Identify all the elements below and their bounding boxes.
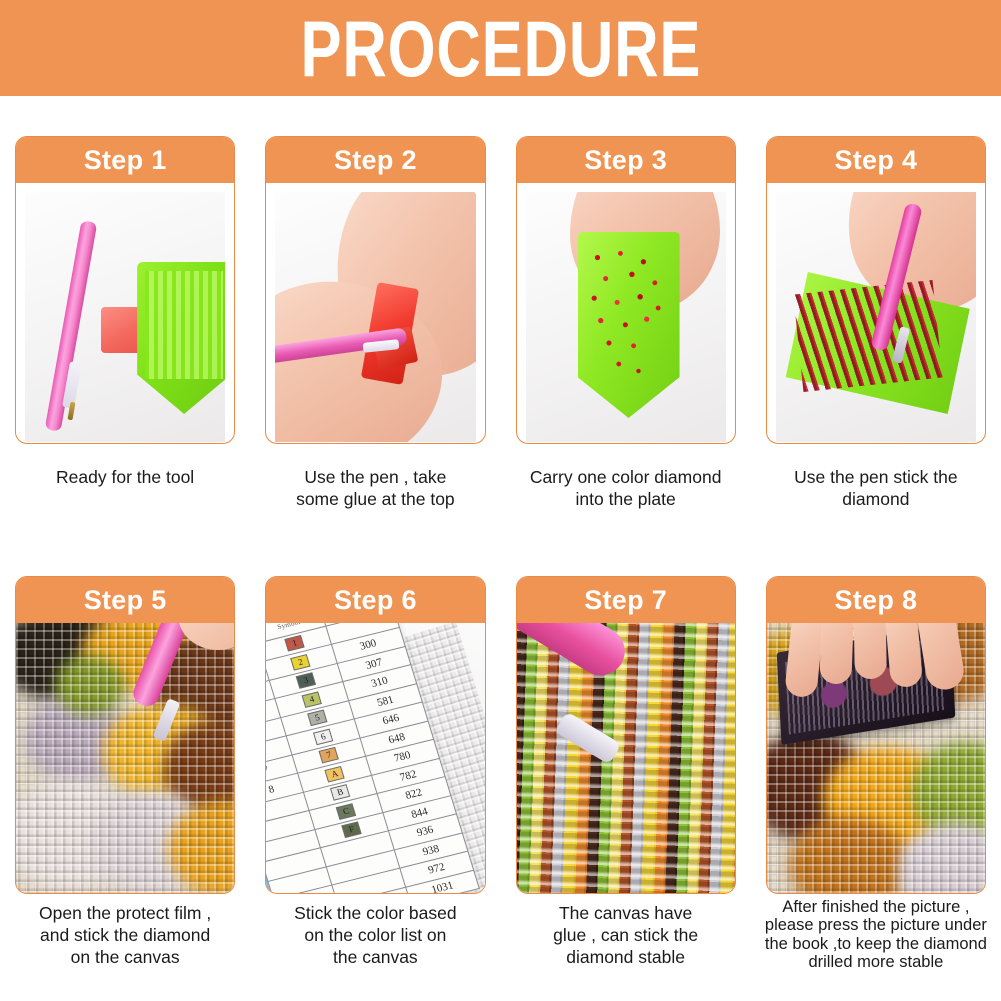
step-cell-4: Step 4 Use the pen stick the diamond: [751, 136, 1001, 536]
step-caption-5: Open the protect film , and stick the di…: [6, 902, 244, 969]
caption-line: diamond: [757, 488, 995, 510]
chart-color-swatch: 7: [319, 747, 339, 764]
pen-picking-diamond-photo: [776, 192, 976, 442]
step-header-3: Step 3: [517, 137, 735, 183]
caption-line: into the plate: [507, 488, 745, 510]
step-cell-5: Step 5: [0, 576, 250, 996]
step-header-1: Step 1: [16, 137, 234, 183]
step-cell-7: Step 7 The canvas have glue , can stick …: [501, 576, 751, 996]
step-card-4[interactable]: Step 4: [766, 136, 986, 444]
step-card-8[interactable]: Step 8: [766, 576, 986, 894]
caption-line: Use the pen stick the: [757, 466, 995, 488]
step-card-1[interactable]: Step 1: [15, 136, 235, 444]
step-card-2[interactable]: Step 2: [265, 136, 485, 444]
chart-color-swatch: 6: [313, 728, 333, 745]
chart-color-swatch: 1: [284, 635, 304, 652]
step-cell-3: Step 3 Carry one color diamond into the …: [501, 136, 751, 536]
pour-diamonds-into-tray-photo: [526, 192, 726, 442]
page-banner: PROCEDURE: [0, 0, 1001, 96]
step-caption-8: After finished the picture , please pres…: [757, 898, 995, 972]
caption-line: the canvas: [256, 946, 494, 968]
step-caption-6: Stick the color based on the color list …: [256, 902, 494, 969]
caption-line: Use the pen , take: [256, 466, 494, 488]
step-header-5: Step 5: [16, 577, 234, 623]
step-caption-1: Ready for the tool: [6, 466, 244, 488]
caption-line: please press the picture under: [757, 916, 995, 934]
step-card-3[interactable]: Step 3: [516, 136, 736, 444]
step-card-6[interactable]: Step 6 SymbolSymbolDMC112230033307443105…: [265, 576, 485, 894]
step-caption-2: Use the pen , take some glue at the top: [256, 466, 494, 510]
chart-color-swatch: A: [324, 765, 344, 782]
step-cell-2: Step 2 Use the pen , take some glue at t…: [250, 136, 500, 536]
finger: [820, 623, 855, 684]
macro-drills-closeup-photo: [517, 623, 735, 893]
step-header-2: Step 2: [266, 137, 484, 183]
caption-line: the book ,to keep the diamond: [757, 935, 995, 953]
caption-line: The canvas have: [507, 902, 745, 924]
caption-line: glue , can stick the: [507, 924, 745, 946]
sunflower-canvas-placing-photo: [16, 623, 234, 893]
chart-color-swatch: 5: [307, 710, 327, 727]
aligned-drill-rows: [793, 280, 942, 392]
red-diamond-drills: [586, 245, 668, 385]
step-header-6: Step 6: [266, 577, 484, 623]
step-header-7: Step 7: [517, 577, 735, 623]
caption-line: on the canvas: [6, 946, 244, 968]
canvas-mosaic: [16, 623, 234, 893]
color-chart-legend-photo: SymbolSymbolDMC1122300333074431055581666…: [266, 623, 484, 893]
step-cell-1: Step 1 Ready for the tool: [0, 136, 250, 536]
chart-color-swatch: F: [341, 821, 361, 838]
steps-row-bottom: Step 5: [0, 576, 1001, 996]
chart-color-swatch: B: [330, 784, 350, 801]
step-header-4: Step 4: [767, 137, 985, 183]
page-title: PROCEDURE: [300, 9, 701, 88]
caption-line: diamond stable: [507, 946, 745, 968]
caption-line: on the color list on: [256, 924, 494, 946]
chart-color-swatch: 4: [301, 691, 321, 708]
caption-line: Stick the color based: [256, 902, 494, 924]
chart-color-swatch: 2: [290, 654, 310, 671]
caption-line: and stick the diamond: [6, 924, 244, 946]
chart-color-swatch: C: [336, 803, 356, 820]
chart-color-swatch: 3: [296, 672, 316, 689]
step-header-8: Step 8: [767, 577, 985, 623]
step-cell-6: Step 6 SymbolSymbolDMC112230033307443105…: [250, 576, 500, 996]
step-caption-4: Use the pen stick the diamond: [757, 466, 995, 510]
caption-line: drilled more stable: [757, 953, 995, 971]
drill-sheen: [517, 623, 735, 893]
steps-row-top: Step 1 Ready for the tool Step 2: [0, 136, 1001, 536]
tools-pen-wax-tray-photo: [25, 192, 225, 442]
caption-line: Open the protect film ,: [6, 902, 244, 924]
procedure-infographic: PROCEDURE Step 1 Ready for the tool: [0, 0, 1001, 1001]
step-caption-3: Carry one color diamond into the plate: [507, 466, 745, 510]
step-card-5[interactable]: Step 5: [15, 576, 235, 894]
press-with-book-photo: [767, 623, 985, 893]
step-cell-8: Step 8: [751, 576, 1001, 996]
pen-dipping-glue-photo: [275, 192, 475, 442]
step-card-7[interactable]: Step 7: [516, 576, 736, 894]
step-caption-7: The canvas have glue , can stick the dia…: [507, 902, 745, 969]
caption-line: After finished the picture ,: [757, 898, 995, 916]
finger: [853, 623, 887, 679]
caption-line: Carry one color diamond: [507, 466, 745, 488]
caption-line: some glue at the top: [256, 488, 494, 510]
